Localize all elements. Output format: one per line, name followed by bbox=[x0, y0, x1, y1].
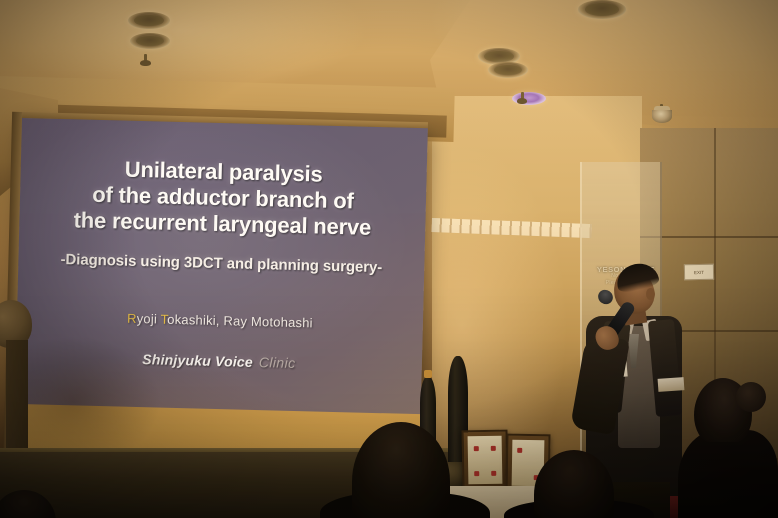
audience-body bbox=[678, 430, 778, 518]
downlight-icon bbox=[128, 12, 170, 29]
sprinkler-head-icon bbox=[140, 54, 151, 67]
author-name-part-1: yoji bbox=[137, 311, 161, 327]
decor-bottle-cap bbox=[424, 370, 432, 378]
sprinkler-head-icon bbox=[517, 92, 527, 104]
presentation-slide: Unilateral paralysis of the adductor bra… bbox=[15, 118, 428, 416]
author-name-part-2: okashiki, Ray Motohashi bbox=[167, 312, 313, 331]
audience-hair-bun bbox=[736, 382, 766, 412]
projection-screen: Unilateral paralysis of the adductor bra… bbox=[13, 118, 428, 470]
downlight-icon bbox=[130, 33, 170, 49]
author-initial-1: R bbox=[127, 311, 137, 326]
downlight-icon bbox=[578, 0, 626, 19]
photo-scene: YESON VOICE No smoking Please be polite … bbox=[0, 0, 778, 518]
screen-surface: Unilateral paralysis of the adductor bra… bbox=[15, 118, 428, 416]
microphone-capsule bbox=[595, 287, 615, 307]
speaker-ear bbox=[646, 288, 655, 300]
framed-certificate bbox=[461, 430, 508, 491]
speaker-pocket-square bbox=[658, 377, 685, 392]
affiliation-light: Clinic bbox=[259, 354, 296, 371]
slide-affiliation: Shinjyuku VoiceClinic bbox=[16, 348, 422, 374]
slide-title: Unilateral paralysis of the adductor bra… bbox=[19, 154, 427, 242]
slide-subtitle: -Diagnosis using 3DCT and planning surge… bbox=[18, 250, 424, 277]
dome-camera-icon bbox=[652, 106, 672, 124]
slide-authors: Ryoji Tokashiki, Ray Motohashi bbox=[17, 308, 423, 333]
affiliation-bold: Shinjyuku Voice bbox=[142, 351, 253, 370]
downlight-icon bbox=[488, 62, 528, 78]
